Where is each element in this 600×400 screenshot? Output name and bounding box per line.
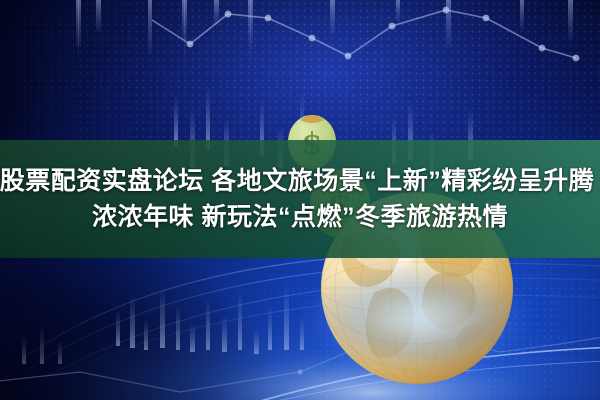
globe-base-glow — [262, 243, 572, 393]
headline-line-1: 股票配资实盘论坛 各地文旅场景“上新”精彩纷呈升腾 — [0, 166, 594, 196]
headline-text-block: 股票配资实盘论坛 各地文旅场景“上新”精彩纷呈升腾 浓浓年味 新玩法“点燃”冬季… — [0, 140, 600, 258]
headline-line-2: 浓浓年味 新玩法“点燃”冬季旅游热情 — [92, 202, 508, 232]
banner-image: $ $ $ — [0, 0, 600, 400]
